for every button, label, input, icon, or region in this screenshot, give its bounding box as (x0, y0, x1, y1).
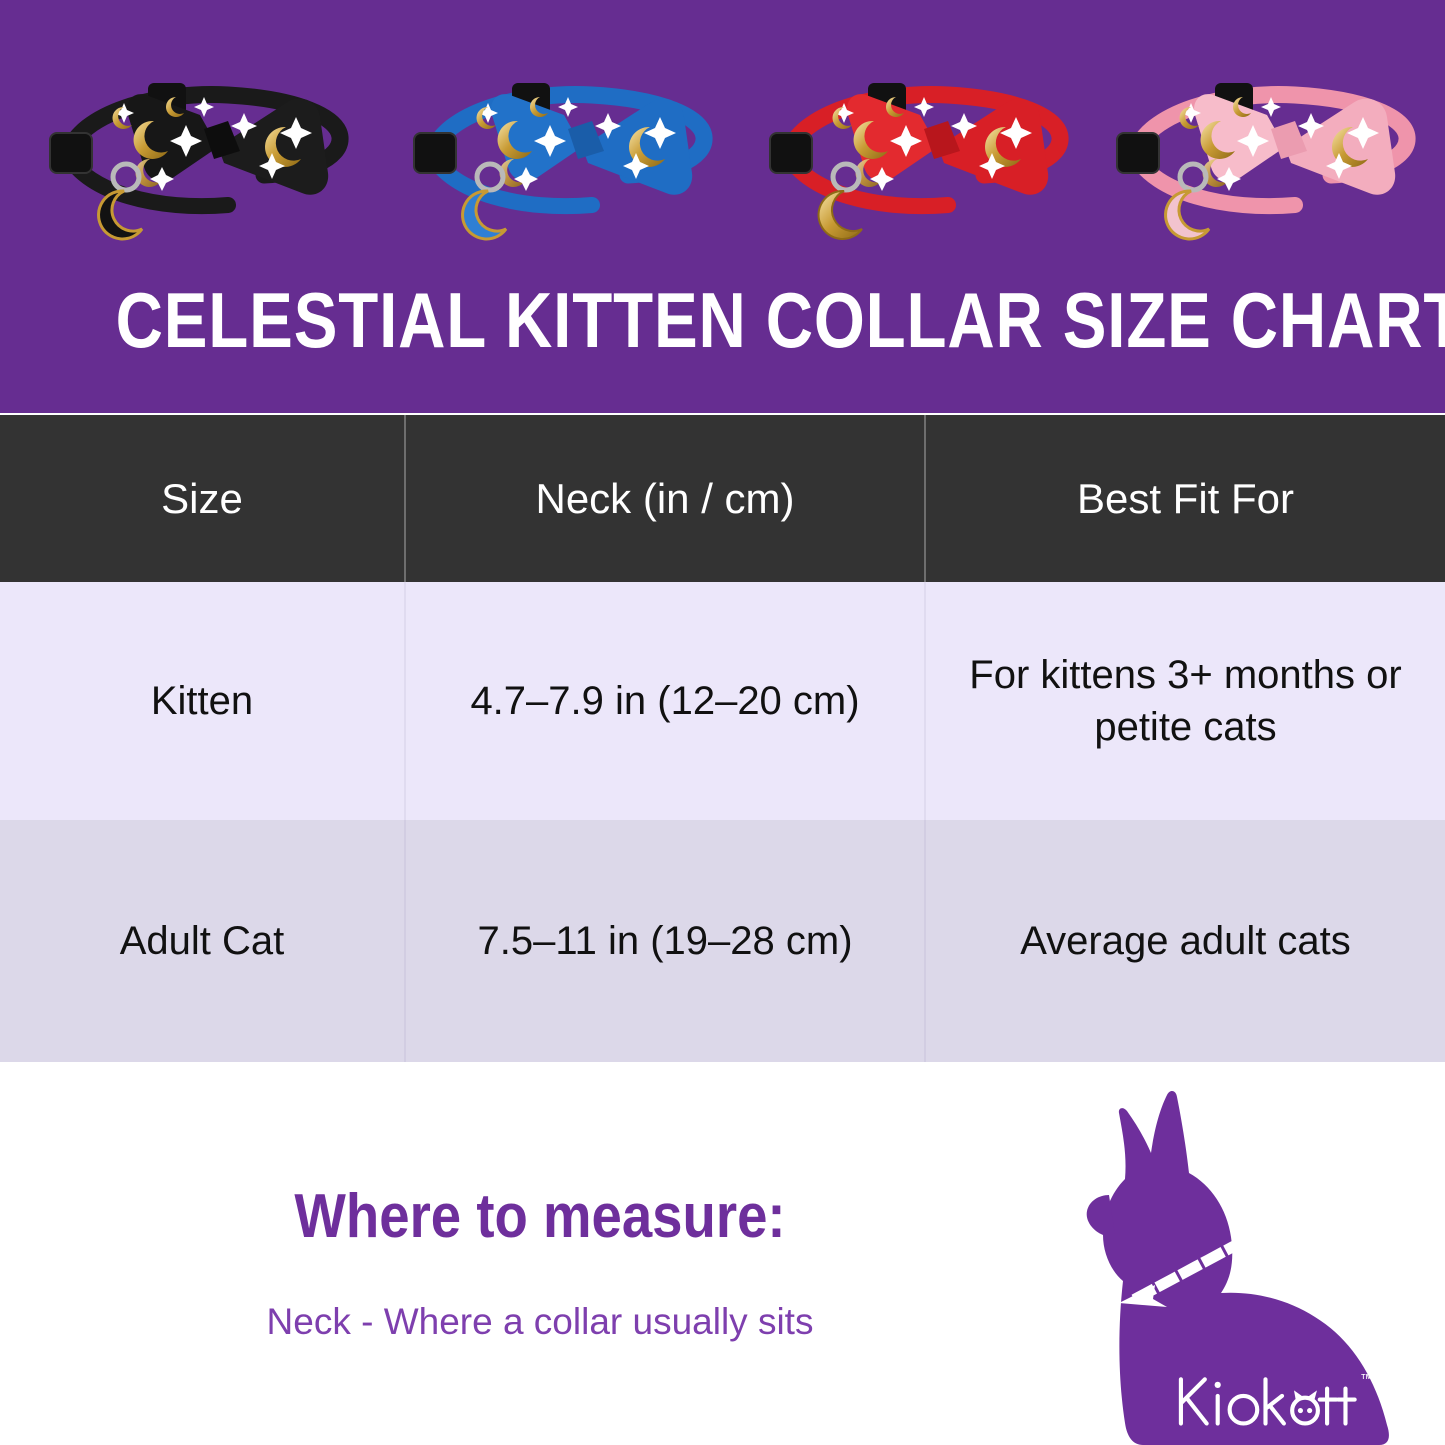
cat-silhouette-diagram: ™ (1015, 1085, 1445, 1445)
product-image-black-celestial-bowtie-collar (28, 55, 373, 255)
where-to-measure-section: Where to measure: Neck - Where a collar … (0, 1062, 1445, 1445)
trademark-symbol: ™ (1360, 1372, 1373, 1385)
brand-logo: ™ (1173, 1372, 1373, 1429)
cell-neck-kitten: 4.7–7.9 in (12–20 cm) (406, 582, 926, 820)
column-header-best-fit: Best Fit For (926, 415, 1445, 582)
product-image-strip (0, 0, 1445, 280)
hero-banner: CELESTIAL KITTEN COLLAR SIZE CHART (0, 0, 1445, 413)
measure-subtext: Neck - Where a collar usually sits (120, 1300, 960, 1344)
collar-illustration-blue-icon (392, 55, 737, 255)
measure-heading: Where to measure: (170, 1184, 909, 1250)
product-image-blue-celestial-bowtie-collar (392, 55, 737, 255)
table-row: Kitten 4.7–7.9 in (12–20 cm) For kittens… (0, 582, 1445, 820)
table-header-row: Size Neck (in / cm) Best Fit For (0, 415, 1445, 582)
cell-best-fit-kitten: For kittens 3+ months or petite cats (926, 582, 1445, 820)
product-image-red-celestial-bowtie-collar (748, 55, 1093, 255)
collar-illustration-pink-icon (1095, 55, 1440, 255)
size-chart-page: CELESTIAL KITTEN COLLAR SIZE CHART Size … (0, 0, 1445, 1445)
cell-size-adult-cat: Adult Cat (0, 820, 406, 1062)
collar-illustration-black-icon (28, 55, 373, 255)
cell-size-kitten: Kitten (0, 582, 406, 820)
cell-neck-adult-cat: 7.5–11 in (19–28 cm) (406, 820, 926, 1062)
column-header-neck: Neck (in / cm) (406, 415, 926, 582)
page-title: CELESTIAL KITTEN COLLAR SIZE CHART (116, 278, 1330, 362)
table-row: Adult Cat 7.5–11 in (19–28 cm) Average a… (0, 820, 1445, 1062)
cell-best-fit-adult-cat: Average adult cats (926, 820, 1445, 1062)
kiokatt-wordmark-icon (1173, 1372, 1358, 1429)
collar-illustration-red-icon (748, 55, 1093, 255)
product-image-pink-celestial-bowtie-collar (1095, 55, 1440, 255)
column-header-size: Size (0, 415, 406, 582)
size-chart-table: Size Neck (in / cm) Best Fit For Kitten … (0, 415, 1445, 1062)
cat-face-a-icon (1292, 1390, 1318, 1423)
